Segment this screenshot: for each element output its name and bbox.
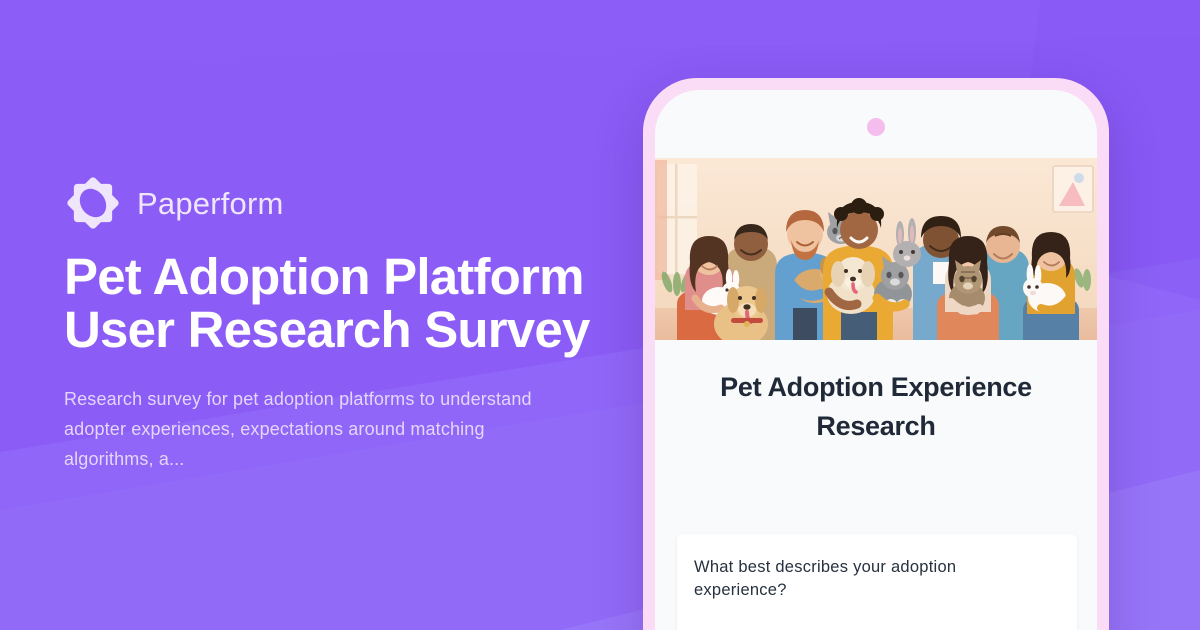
paperform-star-logo-icon — [64, 174, 122, 232]
phone-mockup: Pet Adoption Experience Research What be… — [643, 78, 1109, 630]
hero-left-column: Paperform Pet Adoption Platform User Res… — [64, 0, 664, 630]
page-title: Pet Adoption Platform User Research Surv… — [64, 250, 624, 356]
camera-dot-icon — [867, 118, 885, 136]
headline-line-1: Pet Adoption Platform — [64, 248, 584, 305]
phone-screen: Pet Adoption Experience Research What be… — [655, 90, 1097, 630]
brand-name: Paperform — [137, 188, 284, 219]
headline-line-2: User Research Survey — [64, 301, 590, 358]
brand-lockup[interactable]: Paperform — [64, 174, 284, 232]
form-title: Pet Adoption Experience Research — [679, 368, 1073, 446]
question-card[interactable]: What best describes your adoption experi… — [677, 534, 1077, 630]
hero-description: Research survey for pet adoption platfor… — [64, 384, 534, 474]
question-text: What best describes your adoption experi… — [694, 556, 1024, 602]
form-hero-image — [655, 158, 1097, 340]
